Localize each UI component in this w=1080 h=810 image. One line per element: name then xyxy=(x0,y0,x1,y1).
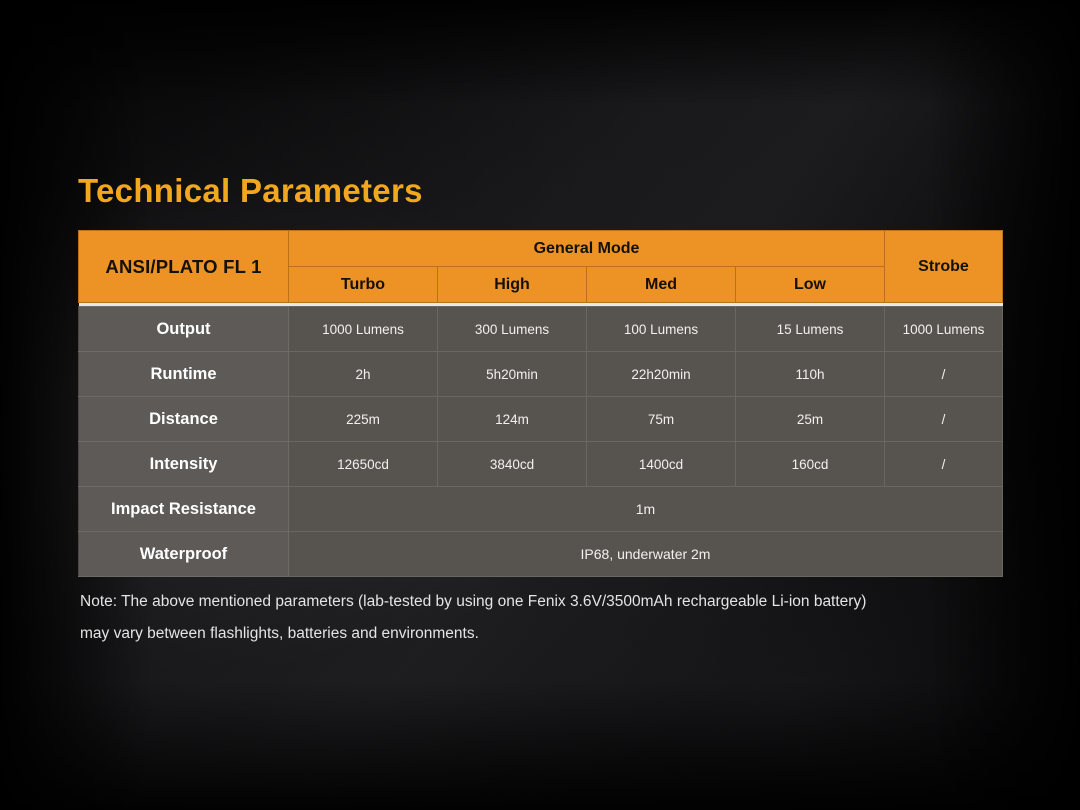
row-label-distance: Distance xyxy=(79,397,289,442)
cell-impact-resistance-value: 1m xyxy=(289,487,1003,532)
technical-parameters-table: ANSI/PLATO FL 1 General Mode Strobe Turb… xyxy=(78,230,1003,577)
table-header: ANSI/PLATO FL 1 General Mode Strobe Turb… xyxy=(79,231,1003,307)
cell-runtime-med: 22h20min xyxy=(587,352,736,397)
cell-output-high: 300 Lumens xyxy=(438,307,587,352)
row-label-impact-resistance: Impact Resistance xyxy=(79,487,289,532)
header-mode-high: High xyxy=(438,267,587,303)
note-line-2: may vary between flashlights, batteries … xyxy=(80,618,1010,650)
cell-output-med: 100 Lumens xyxy=(587,307,736,352)
cell-output-strobe: 1000 Lumens xyxy=(885,307,1003,352)
header-row-group: ANSI/PLATO FL 1 General Mode Strobe xyxy=(79,231,1003,267)
cell-runtime-turbo: 2h xyxy=(289,352,438,397)
header-mode-turbo: Turbo xyxy=(289,267,438,303)
header-general-mode: General Mode xyxy=(289,231,885,267)
header-mode-med: Med xyxy=(587,267,736,303)
cell-distance-med: 75m xyxy=(587,397,736,442)
cell-distance-strobe: / xyxy=(885,397,1003,442)
row-label-output: Output xyxy=(79,307,289,352)
cell-distance-turbo: 225m xyxy=(289,397,438,442)
cell-distance-high: 124m xyxy=(438,397,587,442)
cell-intensity-strobe: / xyxy=(885,442,1003,487)
cell-runtime-low: 110h xyxy=(736,352,885,397)
cell-runtime-strobe: / xyxy=(885,352,1003,397)
cell-distance-low: 25m xyxy=(736,397,885,442)
header-mode-low: Low xyxy=(736,267,885,303)
page-title: Technical Parameters xyxy=(78,172,423,210)
table-row: Output 1000 Lumens 300 Lumens 100 Lumens… xyxy=(79,307,1003,352)
table-row: Runtime 2h 5h20min 22h20min 110h / xyxy=(79,352,1003,397)
note-line-1: Note: The above mentioned parameters (la… xyxy=(80,586,1010,618)
table-row: Waterproof IP68, underwater 2m xyxy=(79,532,1003,577)
header-ansi-plato-fl1: ANSI/PLATO FL 1 xyxy=(79,231,289,303)
cell-intensity-low: 160cd xyxy=(736,442,885,487)
table-row: Impact Resistance 1m xyxy=(79,487,1003,532)
table-body: Output 1000 Lumens 300 Lumens 100 Lumens… xyxy=(79,307,1003,577)
cell-intensity-med: 1400cd xyxy=(587,442,736,487)
cell-output-low: 15 Lumens xyxy=(736,307,885,352)
cell-intensity-high: 3840cd xyxy=(438,442,587,487)
cell-intensity-turbo: 12650cd xyxy=(289,442,438,487)
spec-sheet-page: Technical Parameters ANSI/PLATO FL 1 Gen… xyxy=(0,0,1080,810)
row-label-waterproof: Waterproof xyxy=(79,532,289,577)
row-label-runtime: Runtime xyxy=(79,352,289,397)
cell-output-turbo: 1000 Lumens xyxy=(289,307,438,352)
note-block: Note: The above mentioned parameters (la… xyxy=(80,586,1010,650)
row-label-intensity: Intensity xyxy=(79,442,289,487)
header-strobe: Strobe xyxy=(885,231,1003,303)
cell-runtime-high: 5h20min xyxy=(438,352,587,397)
table-row: Intensity 12650cd 3840cd 1400cd 160cd / xyxy=(79,442,1003,487)
cell-waterproof-value: IP68, underwater 2m xyxy=(289,532,1003,577)
table-row: Distance 225m 124m 75m 25m / xyxy=(79,397,1003,442)
